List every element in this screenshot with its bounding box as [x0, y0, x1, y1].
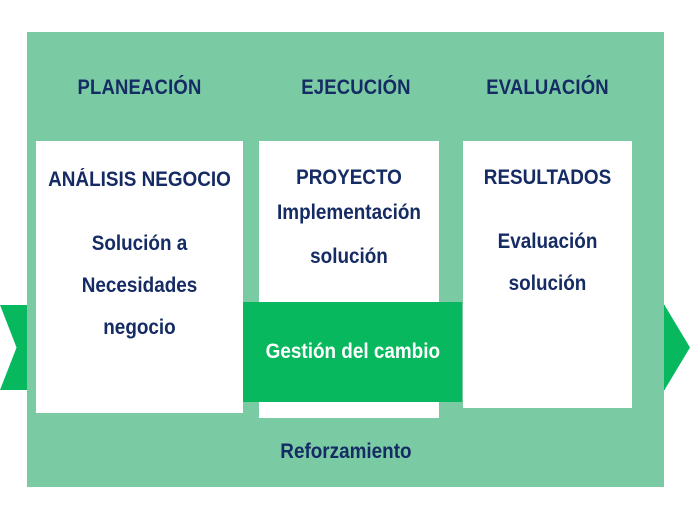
reinforcement-text: Reforzamiento — [280, 440, 411, 464]
stage-line-1: Solución a — [46, 223, 232, 265]
stage-line-1: Implementación — [268, 191, 430, 235]
stage-title: RESULTADOS — [471, 165, 623, 191]
phase-header-ejecucion: EJECUCIÓN — [263, 76, 450, 100]
stage-box-content: RESULTADOS Evaluación solución — [463, 141, 632, 305]
stage-line-1: Evaluación — [471, 221, 623, 263]
stage-title: ANÁLISIS NEGOCIO — [46, 167, 232, 193]
stage-line-2: solución — [471, 263, 623, 305]
change-management-label: Gestión del cambio — [265, 340, 439, 364]
stage-title: PROYECTO — [268, 165, 430, 191]
stage-box-content: PROYECTO Implementación solución — [259, 141, 439, 279]
stage-spacer — [463, 191, 632, 221]
stage-box-resultados[interactable]: RESULTADOS Evaluación solución — [463, 141, 632, 408]
change-management-band[interactable]: Gestión del cambio — [243, 302, 462, 402]
stage-box-analisis-negocio[interactable]: ANÁLISIS NEGOCIO Solución a Necesidades … — [36, 141, 243, 413]
phase-header-evaluacion: EVALUACIÓN — [473, 76, 622, 100]
stage-line-2: solución — [268, 235, 430, 279]
phase-header-planeacion: PLANEACIÓN — [48, 76, 230, 100]
stage-spacer — [36, 193, 243, 223]
process-diagram: PLANEACIÓN EJECUCIÓN EVALUACIÓN ANÁLISIS… — [0, 0, 690, 517]
reinforcement-label: Reforzamiento — [27, 440, 664, 464]
stage-line-2: Necesidades negocio — [46, 265, 232, 349]
stage-box-content: ANÁLISIS NEGOCIO Solución a Necesidades … — [36, 141, 243, 349]
